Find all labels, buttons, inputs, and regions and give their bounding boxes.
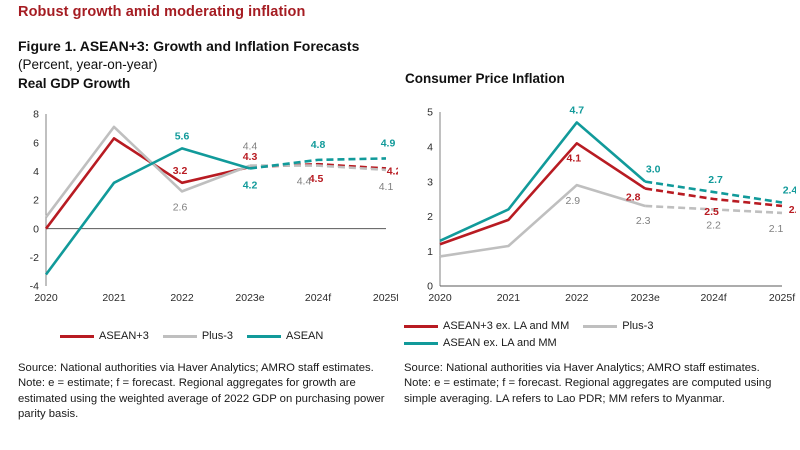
svg-text:4.1: 4.1 bbox=[379, 181, 394, 193]
svg-text:2.2: 2.2 bbox=[706, 219, 721, 231]
legend-right-row: ASEAN ex. LA and MM bbox=[404, 337, 667, 349]
svg-text:2020: 2020 bbox=[428, 292, 452, 304]
legend-real-gdp-growth: ASEAN+3Plus-3ASEAN bbox=[60, 330, 337, 347]
svg-text:1: 1 bbox=[427, 246, 433, 258]
svg-text:2.6: 2.6 bbox=[173, 201, 188, 213]
svg-text:2021: 2021 bbox=[102, 292, 126, 304]
svg-text:6: 6 bbox=[33, 137, 39, 149]
figure-page: Robust growth amid moderating inflation … bbox=[0, 0, 800, 450]
svg-text:4.9: 4.9 bbox=[381, 137, 396, 149]
legend-item-label: Plus-3 bbox=[202, 330, 233, 342]
svg-text:-2: -2 bbox=[30, 252, 39, 264]
figure-subtitle: (Percent, year-on-year) bbox=[18, 57, 158, 72]
legend-item-label: ASEAN bbox=[286, 330, 323, 342]
svg-text:2020: 2020 bbox=[34, 292, 58, 304]
svg-text:2025f: 2025f bbox=[769, 292, 795, 304]
svg-text:2.7: 2.7 bbox=[708, 174, 723, 186]
source-note-right: Source: National authorities via Haver A… bbox=[404, 361, 786, 376]
legend-item-label: ASEAN ex. LA and MM bbox=[443, 337, 557, 349]
svg-text:2025f: 2025f bbox=[373, 292, 398, 304]
legend-right-row: ASEAN+3 ex. LA and MMPlus-3 bbox=[404, 320, 667, 332]
svg-text:8: 8 bbox=[33, 109, 39, 121]
svg-text:4: 4 bbox=[427, 142, 433, 154]
svg-text:3.2: 3.2 bbox=[173, 165, 188, 177]
chart-consumer-price-inflation: 0123452020202120222023e2024f2025f4.12.82… bbox=[404, 100, 796, 312]
legend-right-item[interactable]: Plus-3 bbox=[583, 320, 653, 332]
legend-right-item[interactable]: ASEAN+3 ex. LA and MM bbox=[404, 320, 569, 332]
svg-text:2.3: 2.3 bbox=[789, 204, 796, 216]
legend-swatch-icon bbox=[404, 342, 438, 345]
legend-swatch-icon bbox=[163, 335, 197, 338]
legend-item-label: Plus-3 bbox=[622, 320, 653, 332]
svg-text:2023e: 2023e bbox=[235, 292, 264, 304]
svg-text:4.4: 4.4 bbox=[243, 141, 258, 153]
svg-text:3: 3 bbox=[427, 176, 433, 188]
svg-text:4.7: 4.7 bbox=[569, 104, 584, 116]
svg-text:2022: 2022 bbox=[565, 292, 589, 304]
headline: Robust growth amid moderating inflation bbox=[18, 4, 305, 20]
chart-real-gdp-growth: -4-2024682020202120222023e2024f2025f3.24… bbox=[8, 104, 398, 312]
svg-text:2.5: 2.5 bbox=[704, 206, 719, 218]
svg-text:4.4: 4.4 bbox=[297, 176, 312, 188]
legend-swatch-icon bbox=[60, 335, 94, 338]
method-note-right: Note: e = estimate; f = forecast. Region… bbox=[404, 376, 786, 407]
svg-text:0: 0 bbox=[33, 223, 39, 235]
svg-text:2.9: 2.9 bbox=[565, 195, 580, 207]
right-panel-title: Consumer Price Inflation bbox=[405, 71, 565, 86]
svg-text:4: 4 bbox=[33, 166, 39, 178]
legend-swatch-icon bbox=[404, 325, 438, 328]
svg-text:4.2: 4.2 bbox=[387, 165, 398, 177]
legend-swatch-icon bbox=[583, 325, 617, 328]
svg-text:2.4: 2.4 bbox=[783, 184, 796, 196]
svg-text:2022: 2022 bbox=[170, 292, 194, 304]
svg-text:2: 2 bbox=[427, 211, 433, 223]
svg-text:3.0: 3.0 bbox=[646, 164, 661, 176]
legend-item-label: ASEAN+3 ex. LA and MM bbox=[443, 320, 569, 332]
legend-item-label: ASEAN+3 bbox=[99, 330, 149, 342]
svg-text:5: 5 bbox=[427, 107, 433, 119]
left-panel-title: Real GDP Growth bbox=[18, 76, 130, 91]
notes-left: Source: National authorities via Haver A… bbox=[18, 361, 394, 422]
svg-text:4.8: 4.8 bbox=[311, 139, 326, 151]
legend-swatch-icon bbox=[247, 335, 281, 338]
legend-right-item[interactable]: ASEAN ex. LA and MM bbox=[404, 337, 557, 349]
svg-text:2023e: 2023e bbox=[631, 292, 660, 304]
figure-title: Figure 1. ASEAN+3: Growth and Inflation … bbox=[18, 38, 359, 54]
svg-text:2: 2 bbox=[33, 195, 39, 207]
method-note-left: Note: e = estimate; f = forecast. Region… bbox=[18, 376, 394, 422]
svg-text:2021: 2021 bbox=[497, 292, 521, 304]
svg-text:4.1: 4.1 bbox=[566, 152, 581, 164]
notes-right: Source: National authorities via Haver A… bbox=[404, 361, 786, 407]
legend-left-item[interactable]: ASEAN+3 bbox=[60, 330, 149, 342]
legend-consumer-price-inflation: ASEAN+3 ex. LA and MMPlus-3ASEAN ex. LA … bbox=[404, 320, 667, 354]
legend-left-item[interactable]: Plus-3 bbox=[163, 330, 233, 342]
svg-text:2.8: 2.8 bbox=[626, 192, 641, 204]
svg-text:2024f: 2024f bbox=[305, 292, 331, 304]
svg-text:2.3: 2.3 bbox=[636, 215, 651, 227]
svg-text:2024f: 2024f bbox=[700, 292, 726, 304]
svg-text:4.3: 4.3 bbox=[243, 151, 258, 163]
svg-text:-4: -4 bbox=[30, 281, 39, 293]
source-note-left: Source: National authorities via Haver A… bbox=[18, 361, 394, 376]
legend-left-row: ASEAN+3Plus-3ASEAN bbox=[60, 330, 337, 342]
svg-text:2.1: 2.1 bbox=[769, 223, 784, 235]
svg-text:5.6: 5.6 bbox=[175, 130, 190, 142]
legend-left-item[interactable]: ASEAN bbox=[247, 330, 323, 342]
svg-text:0: 0 bbox=[427, 281, 433, 293]
svg-text:4.2: 4.2 bbox=[243, 179, 258, 191]
